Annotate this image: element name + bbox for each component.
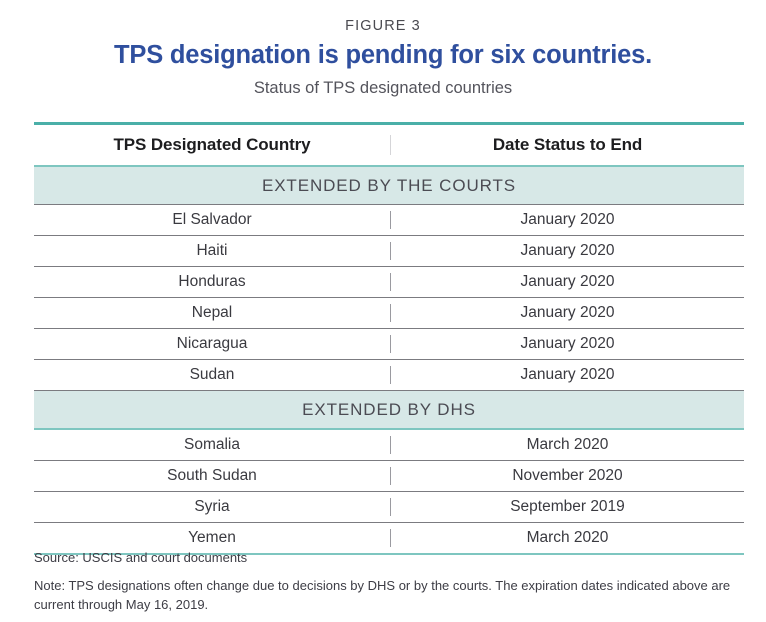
- cell-country: Nicaragua: [34, 335, 390, 353]
- table-header-row: TPS Designated Country Date Status to En…: [34, 125, 744, 165]
- cell-date: January 2020: [390, 304, 744, 322]
- table-row: Somalia March 2020: [34, 430, 744, 460]
- table-row: Yemen March 2020: [34, 523, 744, 553]
- section-band-label: EXTENDED BY DHS: [302, 400, 476, 420]
- cell-country: Honduras: [34, 273, 390, 291]
- cell-date: January 2020: [390, 335, 744, 353]
- section-band-label: EXTENDED BY THE COURTS: [262, 176, 516, 196]
- cell-country: Nepal: [34, 304, 390, 322]
- cell-date: March 2020: [390, 436, 744, 454]
- table-row: El Salvador January 2020: [34, 205, 744, 235]
- explanatory-note: Note: TPS designations often change due …: [34, 565, 746, 615]
- table-row: Haiti January 2020: [34, 236, 744, 266]
- cell-date: March 2020: [390, 529, 744, 547]
- cell-country: South Sudan: [34, 467, 390, 485]
- cell-country: Yemen: [34, 529, 390, 547]
- cell-country: Somalia: [34, 436, 390, 454]
- cell-country: Syria: [34, 498, 390, 516]
- cell-date: September 2019: [390, 498, 744, 516]
- table-row: Sudan January 2020: [34, 360, 744, 390]
- column-header-date: Date Status to End: [390, 135, 744, 155]
- cell-country: Haiti: [34, 242, 390, 260]
- table-row: Honduras January 2020: [34, 267, 744, 297]
- table-row: South Sudan November 2020: [34, 461, 744, 491]
- table-row: Syria September 2019: [34, 492, 744, 522]
- cell-date: January 2020: [390, 211, 744, 229]
- table-row: Nepal January 2020: [34, 298, 744, 328]
- cell-date: January 2020: [390, 273, 744, 291]
- table-row: Nicaragua January 2020: [34, 329, 744, 359]
- cell-date: January 2020: [390, 242, 744, 260]
- source-note: Source: USCIS and court documents: [34, 550, 746, 565]
- figure-subtitle: Status of TPS designated countries: [0, 70, 766, 98]
- figure-container: FIGURE 3 TPS designation is pending for …: [0, 0, 766, 622]
- cell-date: November 2020: [390, 467, 744, 485]
- section-band-dhs: EXTENDED BY DHS: [34, 391, 744, 428]
- tps-status-table: TPS Designated Country Date Status to En…: [34, 122, 744, 555]
- figure-notes: Source: USCIS and court documents Note: …: [34, 550, 746, 615]
- cell-country: El Salvador: [34, 211, 390, 229]
- cell-date: January 2020: [390, 366, 744, 384]
- cell-country: Sudan: [34, 366, 390, 384]
- figure-label: FIGURE 3: [0, 0, 766, 34]
- section-band-courts: EXTENDED BY THE COURTS: [34, 167, 744, 204]
- column-header-country: TPS Designated Country: [34, 135, 390, 155]
- figure-title: TPS designation is pending for six count…: [0, 34, 766, 70]
